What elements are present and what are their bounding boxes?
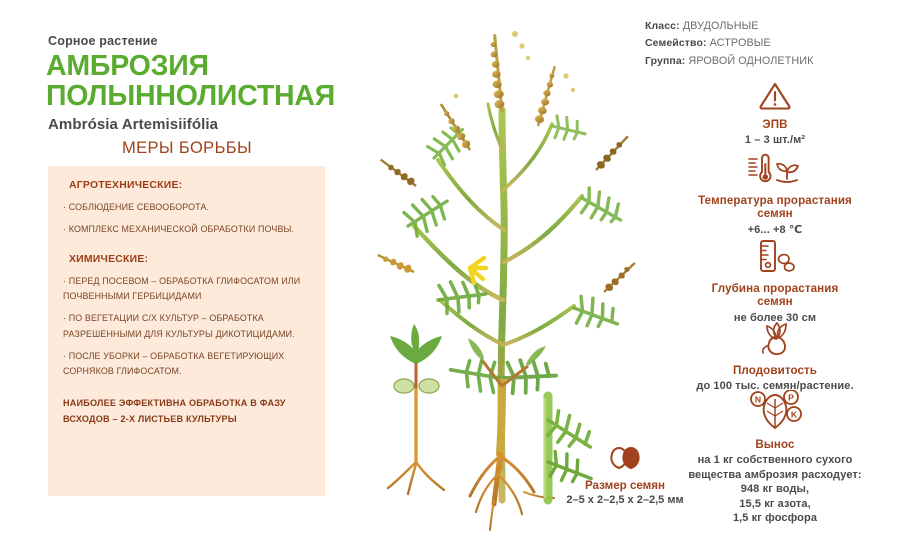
taxonomy-value: ДВУДОЛЬНЫЕ bbox=[683, 20, 759, 32]
fact-epv: ЭПВ 1 – 3 шт./м² bbox=[640, 80, 910, 148]
taxonomy-row-group: Группа: ЯРОВОЙ ОДНОЛЕТНИК bbox=[645, 53, 910, 70]
fact-germination-temperature: Температура прорастания семян +6... +8 ℃ bbox=[640, 152, 910, 237]
agro-heading: АГРОТЕХНИЧЕСКИЕ: bbox=[69, 180, 309, 191]
taxonomy-block: Класс: ДВУДОЛЬНЫЕ Семейство: АСТРОВЫЕ Гр… bbox=[645, 18, 910, 70]
seed-pod-icon bbox=[640, 322, 910, 361]
fact-title: Температура прорастания семян bbox=[640, 194, 910, 221]
removal-line4: 15,5 кг азота, bbox=[739, 498, 810, 510]
plant-seedling bbox=[388, 324, 444, 494]
final-note: НАИБОЛЕЕ ЭФФЕКТИВНА ОБРАБОТКА В ФАЗУ ВСХ… bbox=[63, 395, 309, 427]
fact-fertility: Плодовитость до 100 тыс. семян/растение. bbox=[640, 322, 910, 394]
fact-germination-depth: Глубина прорастания семян не более 30 см bbox=[640, 238, 910, 325]
seed-size-title: Размер семян bbox=[530, 479, 720, 492]
fact-title-line2: семян bbox=[757, 207, 793, 220]
page-title: АМБРОЗИЯ ПОЛЫННОЛИСТНАЯ bbox=[46, 52, 366, 111]
plant-name-line1: АМБРОЗИЯ bbox=[46, 50, 209, 82]
fact-title-line1: Температура прорастания bbox=[698, 194, 852, 207]
measures-panel: АГРОТЕХНИЧЕСКИЕ: · СОБЛЮДЕНИЕ СЕВООБОРОТ… bbox=[48, 166, 325, 496]
svg-text:N: N bbox=[755, 395, 761, 405]
removal-line5: 1,5 кг фосфора bbox=[733, 512, 817, 524]
taxonomy-label: Семейство: bbox=[645, 37, 707, 49]
removal-line3: 948 кг воды, bbox=[741, 483, 809, 495]
warning-triangle-icon bbox=[640, 80, 910, 115]
fact-title: Глубина прорастания семян bbox=[640, 282, 910, 309]
thermometer-sprout-icon bbox=[640, 152, 910, 191]
ruler-seeds-icon bbox=[640, 238, 910, 279]
svg-text:P: P bbox=[788, 393, 794, 403]
chem-item: · ПО ВЕГЕТАЦИИ С/Х КУЛЬТУР – ОБРАБОТКА Р… bbox=[63, 311, 309, 342]
taxonomy-value: АСТРОВЫЕ bbox=[710, 37, 771, 49]
npk-leaf-icon: N P K bbox=[640, 390, 910, 435]
fact-title-line2: семян bbox=[757, 295, 793, 308]
measures-title: МЕРЫ БОРЬБЫ bbox=[48, 139, 326, 158]
chem-heading: ХИМИЧЕСКИЕ: bbox=[69, 254, 309, 265]
left-column: Сорное растение АМБРОЗИЯ ПОЛЫННОЛИСТНАЯ … bbox=[0, 0, 350, 545]
seeds-icon bbox=[530, 446, 720, 477]
taxonomy-value: ЯРОВОЙ ОДНОЛЕТНИК bbox=[688, 55, 813, 67]
fact-value: 1 – 3 шт./м² bbox=[640, 133, 910, 147]
taxonomy-row-family: Семейство: АСТРОВЫЕ bbox=[645, 35, 910, 52]
seed-size-value: 2–5 x 2–2,5 x 2–2,5 мм bbox=[530, 494, 720, 506]
fact-title-line1: Глубина прорастания bbox=[712, 282, 839, 295]
fact-title: Плодовитость bbox=[640, 364, 910, 377]
svg-text:K: K bbox=[791, 410, 798, 420]
chem-item: · ПЕРЕД ПОСЕВОМ – ОБРАБОТКА ГЛИФОСАТОМ И… bbox=[63, 274, 309, 305]
yellow-floret bbox=[470, 258, 486, 283]
agro-item: · КОМПЛЕКС МЕХАНИЧЕСКОЙ ОБРАБОТКИ ПОЧВЫ. bbox=[63, 222, 309, 237]
fact-value: +6... +8 ℃ bbox=[640, 223, 910, 237]
fact-title: ЭПВ bbox=[640, 118, 910, 131]
taxonomy-row-class: Класс: ДВУДОЛЬНЫЕ bbox=[645, 18, 910, 35]
agro-item: · СОБЛЮДЕНИЕ СЕВООБОРОТА. bbox=[63, 200, 309, 215]
taxonomy-label: Группа: bbox=[645, 55, 685, 67]
kicker-label: Сорное растение bbox=[48, 34, 158, 48]
fact-seed-size: Размер семян 2–5 x 2–2,5 x 2–2,5 мм bbox=[530, 446, 720, 506]
plant-name-line2: ПОЛЫННОЛИСТНАЯ bbox=[46, 82, 366, 112]
latin-name: Ambrósia Artemisiifólia bbox=[48, 116, 218, 133]
removal-line1: на 1 кг собственного сухого bbox=[698, 454, 853, 466]
taxonomy-label: Класс: bbox=[645, 20, 680, 32]
infographic-page: Сорное растение АМБРОЗИЯ ПОЛЫННОЛИСТНАЯ … bbox=[0, 0, 910, 545]
plant-branches bbox=[414, 104, 582, 345]
chem-item: · ПОСЛЕ УБОРКИ – ОБРАБОТКА ВЕГЕТИРУЮЩИХ … bbox=[63, 349, 309, 380]
